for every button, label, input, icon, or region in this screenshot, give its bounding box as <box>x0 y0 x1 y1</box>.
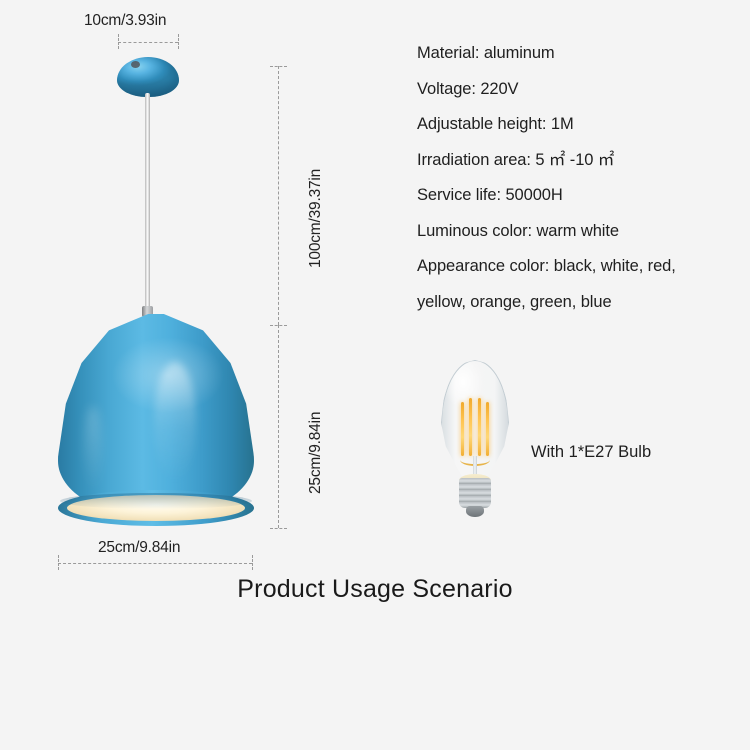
spec-line-service-life: Service life: 50000H <box>417 178 737 214</box>
spec-line-appearance-color: Appearance color: black, white, red, <box>417 249 737 285</box>
spec-line-irradiation-area: Irradiation area: 5 ㎡ -10 ㎡ <box>417 143 737 179</box>
bulb-filament <box>461 402 464 456</box>
hanging-cord <box>145 93 150 311</box>
bulb-filament <box>469 398 472 456</box>
spec-line-voltage: Voltage: 220V <box>417 72 737 108</box>
spec-line-appearance-color-cont: yellow, orange, green, blue <box>417 285 737 321</box>
dimension-line-canopy-width <box>118 42 178 43</box>
spec-line-luminous-color: Luminous color: warm white <box>417 214 737 250</box>
dimension-label-canopy-width: 10cm/3.93in <box>84 12 166 30</box>
bulb-caption: With 1*E27 Bulb <box>531 443 651 462</box>
bulb-screw-base <box>459 478 491 508</box>
dimension-line-shade-width <box>58 563 252 564</box>
spec-line-adjustable-height: Adjustable height: 1M <box>417 107 737 143</box>
dim-tick-bottom <box>270 528 287 529</box>
bulb-contact-tip <box>466 506 484 517</box>
dimension-line-shade-height <box>278 325 279 528</box>
spec-line-material: Material: aluminum <box>417 36 737 72</box>
product-spec-image: 10cm/3.93in 100cm/39.37in 25cm/9.84in 25… <box>0 0 750 750</box>
dimension-label-shade-width: 25cm/9.84in <box>98 539 180 557</box>
bulb-filament <box>486 402 489 456</box>
lamp-shade <box>58 314 254 528</box>
specification-list: Material: aluminum Voltage: 220V Adjusta… <box>417 36 737 320</box>
dimension-line-cord-drop <box>278 66 279 325</box>
page-title: Product Usage Scenario <box>0 575 750 604</box>
dimension-label-cord-drop: 100cm/39.37in <box>307 169 325 268</box>
bulb-filament <box>478 398 481 456</box>
dim-tick-width-right <box>252 555 253 570</box>
dimension-label-shade-height: 25cm/9.84in <box>307 412 325 494</box>
shade-highlight <box>154 362 196 482</box>
dim-tick-canopy-right <box>178 34 179 49</box>
shade-highlight-secondary <box>84 406 102 492</box>
edison-bulb <box>433 360 517 520</box>
shade-rim-lip <box>60 493 252 509</box>
ceiling-canopy <box>117 57 179 97</box>
